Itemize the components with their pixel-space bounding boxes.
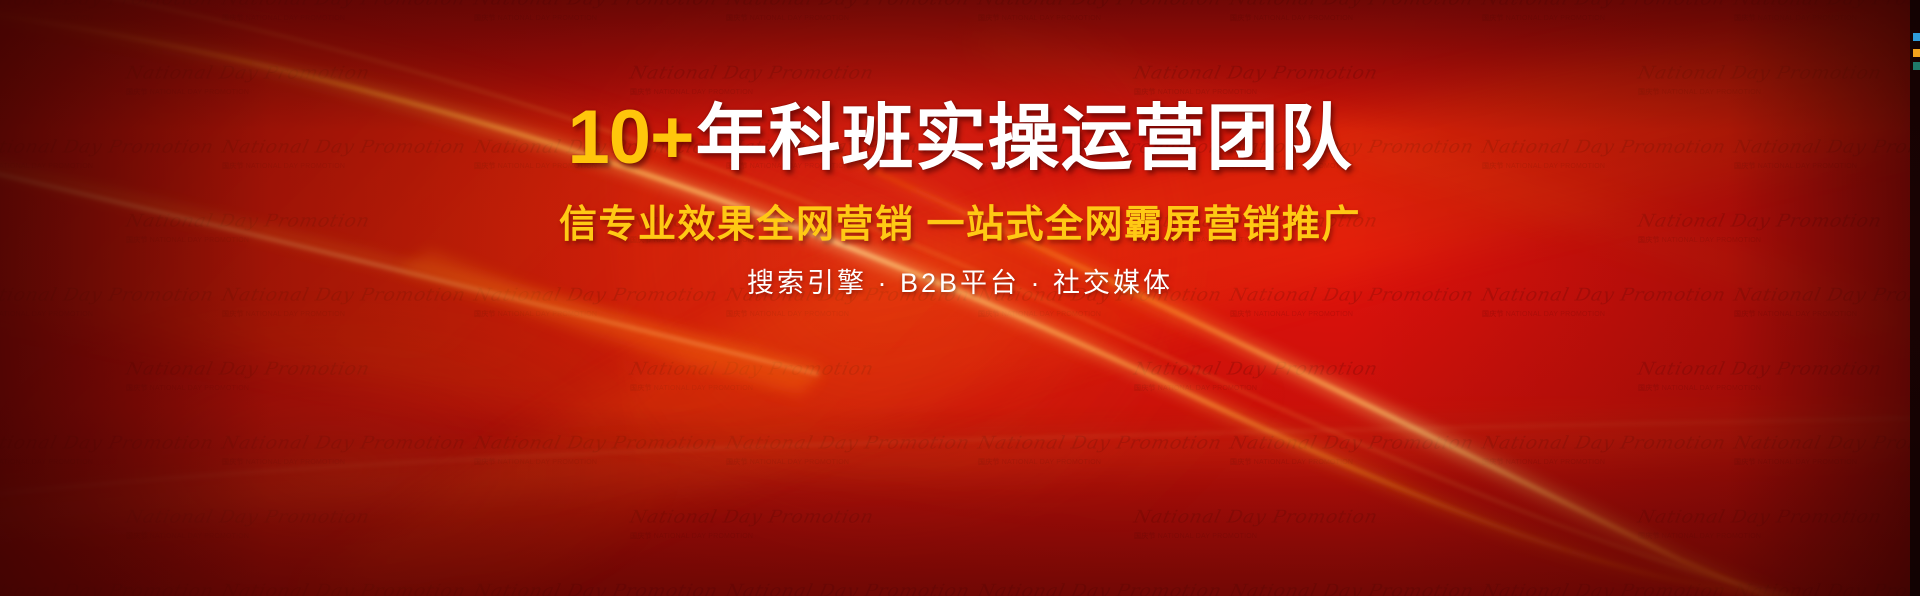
promo-banner: National Day Promotion国庆节 NATIONAL DAY P… bbox=[0, 0, 1920, 596]
edge-mark-blue bbox=[1913, 33, 1920, 41]
subline: 信专业效果全网营销 一站式全网霸屏营销推广 bbox=[559, 206, 1361, 244]
edge-mark-teal bbox=[1913, 62, 1920, 70]
headline-rest: 年科班实操运营团队 bbox=[695, 99, 1352, 179]
headline-number: 10+ bbox=[568, 95, 694, 180]
banner-content: 10+年科班实操运营团队 信专业效果全网营销 一站式全网霸屏营销推广 搜索引擎 … bbox=[0, 0, 1920, 596]
tagline: 搜索引擎 · B2B平台 · 社交媒体 bbox=[747, 270, 1173, 297]
right-edge-strip[interactable] bbox=[1910, 0, 1920, 596]
edge-mark-orange bbox=[1913, 49, 1920, 57]
headline: 10+年科班实操运营团队 bbox=[568, 100, 1353, 176]
